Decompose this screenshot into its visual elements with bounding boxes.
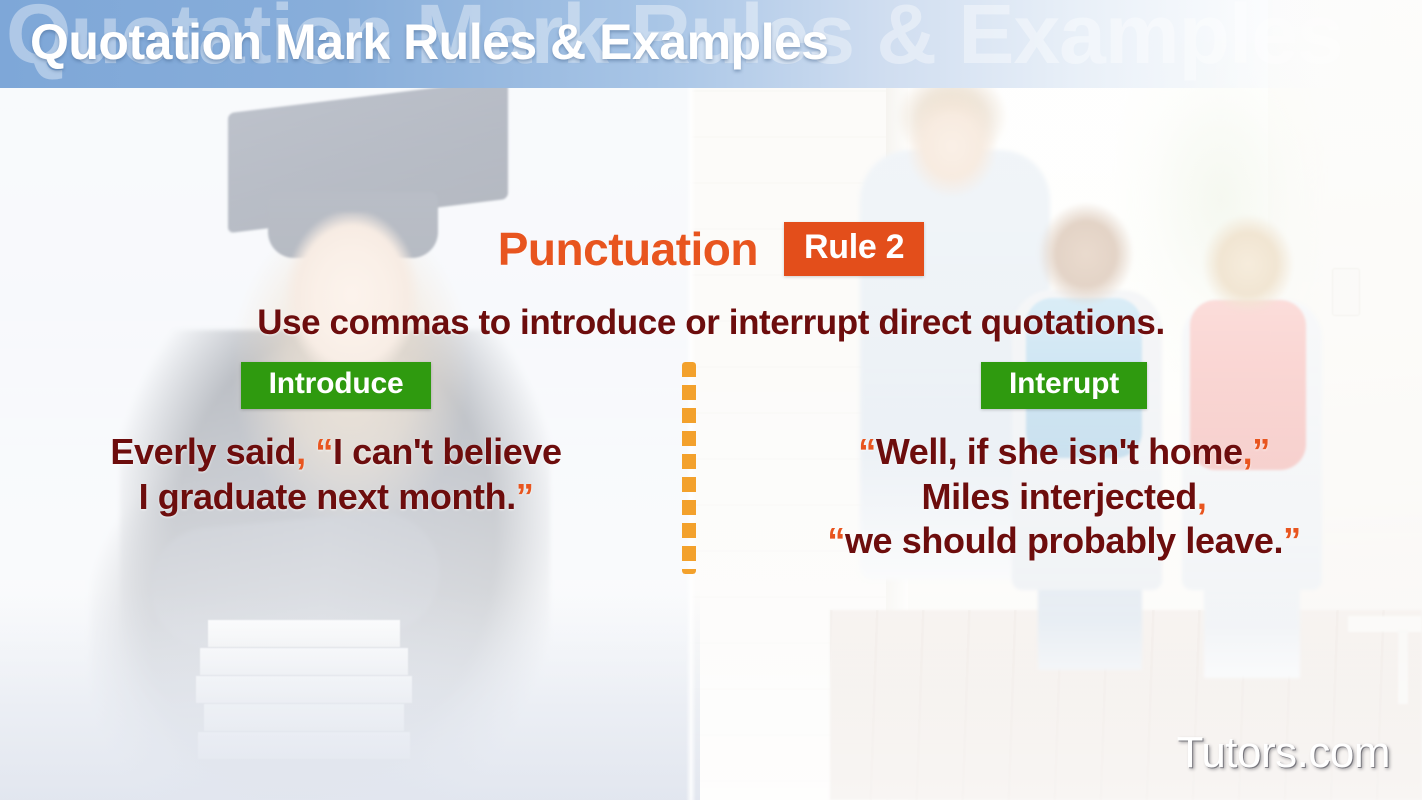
example-line: “we should probably leave.” <box>706 519 1422 564</box>
interrupt-example: “Well, if she isn't home,”Miles interjec… <box>706 430 1422 564</box>
slide-content: Punctuation Rule 2 Use commas to introdu… <box>0 0 1422 800</box>
punctuation-highlight: ” <box>1252 431 1270 472</box>
introduce-column: Introduce Everly said, “I can't believeI… <box>0 362 672 519</box>
punctuation-highlight: , <box>296 431 306 472</box>
punctuation-highlight: , <box>1243 431 1253 472</box>
example-text: we should probably leave. <box>845 520 1283 561</box>
interrupt-column: Interupt “Well, if she isn't home,”Miles… <box>706 362 1422 564</box>
punctuation-highlight: ” <box>1283 520 1301 561</box>
punctuation-highlight: “ <box>315 431 333 472</box>
punctuation-highlight: ” <box>516 476 534 517</box>
rule-statement: Use commas to introduce or interrupt dir… <box>0 303 1422 343</box>
rule-badge: Rule 2 <box>784 222 924 276</box>
example-text: Miles interjected <box>922 476 1197 517</box>
example-text: I graduate next month. <box>139 476 516 517</box>
topic-row: Punctuation Rule 2 <box>0 222 1422 276</box>
example-line: Miles interjected, <box>706 475 1422 520</box>
example-text: Well, if she isn't home <box>876 431 1243 472</box>
punctuation-highlight: “ <box>827 520 845 561</box>
tutors-watermark: Tutors.com <box>1177 728 1390 778</box>
introduce-example: Everly said, “I can't believeI graduate … <box>0 430 672 519</box>
example-text: Everly said <box>110 431 296 472</box>
example-line: “Well, if she isn't home,” <box>706 430 1422 475</box>
example-text <box>306 431 316 472</box>
punctuation-highlight: , <box>1197 476 1207 517</box>
example-line: Everly said, “I can't believe <box>0 430 672 475</box>
topic-label: Punctuation <box>498 222 758 276</box>
interrupt-tag-wrap: Interupt <box>706 362 1422 409</box>
interrupt-tag: Interupt <box>981 362 1147 409</box>
example-text: I can't believe <box>333 431 562 472</box>
introduce-tag-wrap: Introduce <box>0 362 672 409</box>
punctuation-highlight: “ <box>858 431 876 472</box>
example-line: I graduate next month.” <box>0 475 672 520</box>
introduce-tag: Introduce <box>241 362 432 409</box>
column-divider <box>682 362 696 574</box>
slide: Quotation Mark Rules & Examples Quotatio… <box>0 0 1422 800</box>
